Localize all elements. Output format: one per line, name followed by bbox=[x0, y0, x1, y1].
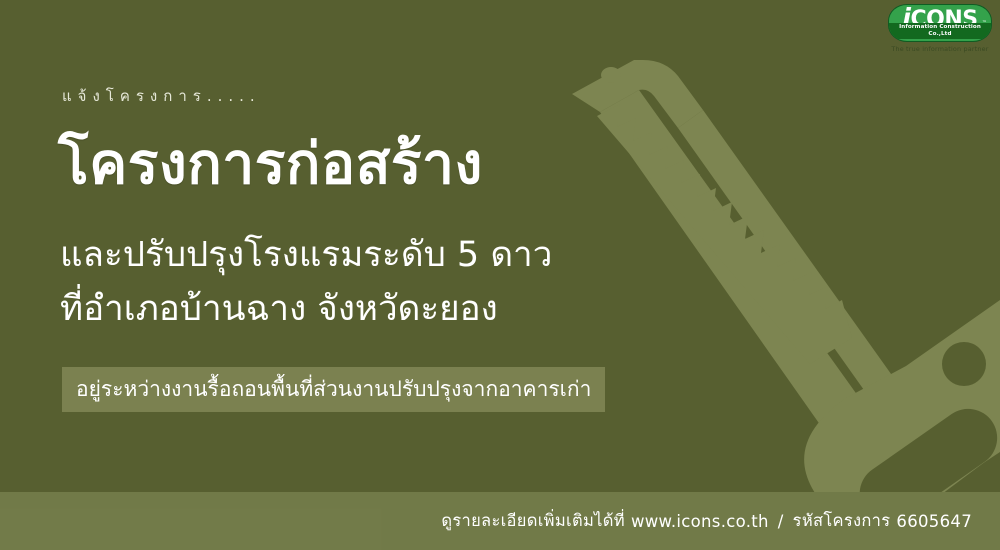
footer-lead-text: ดูรายละเอียดเพิ่มเติมได้ที่ bbox=[441, 508, 625, 534]
eyebrow-text: แจ้งโครงการ..... bbox=[62, 84, 261, 108]
page-title: โครงการก่อสร้าง bbox=[58, 134, 483, 196]
footer-website-link[interactable]: www.icons.co.th bbox=[631, 512, 769, 531]
logo-badge: iCONS ™ Information Construction Co.,Ltd bbox=[888, 4, 992, 42]
promotional-banner: แจ้งโครงการ..... โครงการก่อสร้าง และปรับ… bbox=[0, 0, 1000, 550]
footer-separator: / bbox=[769, 512, 793, 531]
subtitle-line-1: และปรับปรุงโรงแรมระดับ 5 ดาว bbox=[60, 236, 552, 275]
footer-project-code-label: รหัสโครงการ bbox=[793, 508, 891, 534]
footer-project-code-value: 6605647 bbox=[896, 512, 972, 531]
logo-tagline: The true information partner bbox=[888, 45, 992, 54]
status-badge: อยู่ระหว่างงานรื้อถอนพื้นที่ส่วนงานปรับป… bbox=[62, 367, 605, 412]
company-logo[interactable]: iCONS ™ Information Construction Co.,Ltd… bbox=[888, 4, 992, 54]
logo-subtitle: Information Construction Co.,Ltd bbox=[889, 23, 991, 39]
subtitle-line-2: ที่อำเภอบ้านฉาง จังหวัดะยอง bbox=[60, 290, 498, 329]
footer-text: ดูรายละเอียดเพิ่มเติมได้ที่ www.icons.co… bbox=[441, 492, 972, 550]
